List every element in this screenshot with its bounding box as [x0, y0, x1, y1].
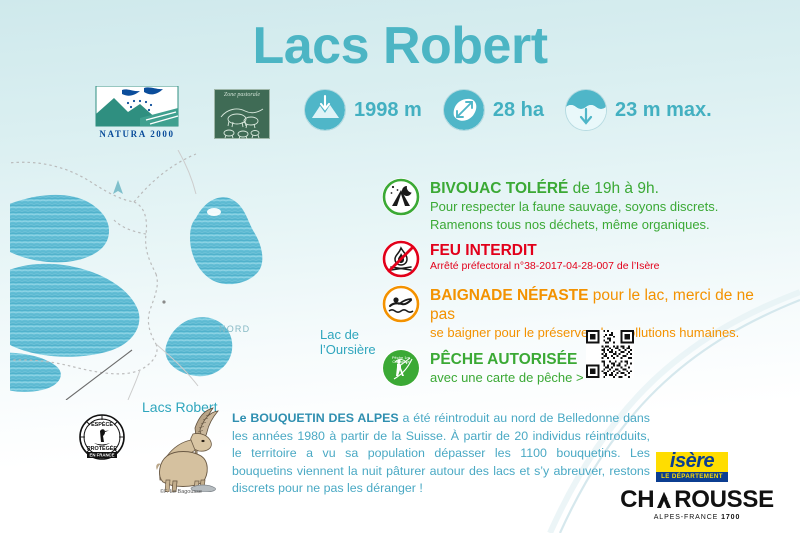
rule-bivouac-title-suffix: de 19h à 9h.: [568, 180, 659, 197]
rule-bivouac-title: BIVOUAC TOLÉRÉ de 19h à 9h.: [430, 179, 718, 198]
rule-no-swimming: BAIGNADE NÉFASTE pour le lac, merci de n…: [382, 285, 782, 342]
map-label-lac-oursiere-line1: Lac de: [320, 327, 359, 342]
ibex-credit: ©F. Le Bagousse: [133, 489, 229, 495]
page-title: Lacs Robert: [0, 16, 800, 76]
chamrousse-logo-sub: ALPES-FRANCE 1700: [607, 514, 787, 521]
swimmer-icon: [382, 285, 420, 323]
rule-no-fire-text: FEU INTERDIT Arrêté préfectoral n°38-201…: [430, 240, 660, 274]
natura-2000-logo: NATURA 2000: [88, 86, 186, 140]
chamrousse-logo-main-right: ROUSSE: [674, 488, 774, 512]
map-label-lac-oursiere-line2: l’Oursière: [320, 342, 376, 357]
mountain-altitude-icon: [305, 90, 345, 130]
chamrousse-logo-main-left: CH: [620, 488, 654, 512]
rule-no-swimming-title: BAIGNADE NÉFASTE pour le lac, merci de n…: [430, 286, 782, 325]
stat-area: 28 ha: [444, 90, 544, 130]
chamrousse-logo-main: CH ROUSSE: [607, 488, 787, 512]
map-label-lac-oursiere: Lac de l’Oursière: [320, 328, 376, 358]
natura-2000-label: NATURA 2000: [99, 129, 174, 139]
isere-logo-sub: LE DÉPARTEMENT: [656, 472, 728, 481]
espece-protegee-line2: PROTÉGÉE: [87, 444, 117, 452]
rule-fishing-text: PÊCHE AUTORISÉE avec une carte de pêche …: [430, 349, 584, 387]
rule-bivouac-line1: Pour respecter la faune sauvage, soyons …: [430, 198, 718, 215]
rule-fishing-title: PÊCHE AUTORISÉE: [430, 350, 584, 369]
rule-no-fire: FEU INTERDIT Arrêté préfectoral n°38-201…: [382, 240, 782, 278]
zone-pastorale-badge: Zone pastorale: [214, 89, 270, 139]
rule-bivouac-line2: Ramenons tous nos déchets, même organiqu…: [430, 216, 718, 233]
water-depth-icon: [566, 90, 606, 130]
isere-logo: isère LE DÉPARTEMENT: [656, 452, 728, 482]
poster-root: Lacs Robert NATURA 2000 Zone pastorale: [0, 0, 800, 533]
chamrousse-logo-sub-number: 1700: [721, 514, 740, 521]
mountain-a-icon: [653, 490, 675, 510]
bouquetin-paragraph: Le BOUQUETIN DES ALPES a été réintroduit…: [232, 410, 650, 498]
lake-map: Lacs Robert Lac de l’Oursière NORD: [10, 150, 390, 400]
zone-pastorale-label: Zone pastorale: [215, 92, 269, 98]
rules-list: BIVOUAC TOLÉRÉ de 19h à 9h. Pour respect…: [382, 178, 782, 394]
chamrousse-logo-sub-text: ALPES-FRANCE: [654, 514, 721, 521]
isere-logo-main: isère: [656, 452, 728, 471]
rule-no-fire-line1: Arrêté préfectoral n°38-2017-04-28-007 d…: [430, 260, 660, 274]
stat-altitude-value: 1998 m: [354, 99, 422, 122]
area-arrow-icon: [444, 90, 484, 130]
chamrousse-logo: CH ROUSSE ALPES-FRANCE 1700: [607, 488, 787, 521]
no-fire-icon: [382, 240, 420, 278]
rule-no-swimming-title-strong: BAIGNADE NÉFASTE: [430, 287, 588, 304]
stat-depth-value: 23 m max.: [615, 99, 712, 122]
ibex-illustration: [133, 404, 229, 492]
fishing-licence-qr-code[interactable]: [586, 330, 634, 378]
stats-row: 1998 m 28 ha 2: [305, 90, 712, 130]
stat-altitude: 1998 m: [305, 90, 422, 130]
stat-depth: 23 m max.: [566, 90, 712, 130]
compass-north-label: NORD: [219, 324, 250, 334]
rule-bivouac-title-strong: BIVOUAC TOLÉRÉ: [430, 180, 568, 197]
rule-bivouac-text: BIVOUAC TOLÉRÉ de 19h à 9h. Pour respect…: [430, 178, 718, 233]
fishing-icon: Pêche 1re Catégorie: [382, 349, 420, 387]
rule-no-fire-title: FEU INTERDIT: [430, 241, 660, 260]
tent-night-icon: [382, 178, 420, 216]
rule-fishing: Pêche 1re Catégorie PÊCHE AUTORISÉE avec…: [382, 349, 782, 387]
espece-protegee-line3: EN FRANCE: [89, 453, 114, 458]
bouquetin-paragraph-lead: Le BOUQUETIN DES ALPES: [232, 411, 399, 425]
rule-fishing-line1: avec une carte de pêche >: [430, 369, 584, 386]
stat-area-value: 28 ha: [493, 99, 544, 122]
rule-bivouac: BIVOUAC TOLÉRÉ de 19h à 9h. Pour respect…: [382, 178, 782, 233]
espece-protegee-badge: ESPÈCE PROTÉGÉE EN FRANCE: [78, 413, 126, 461]
espece-protegee-line1: ESPÈCE: [91, 420, 113, 428]
fishing-badge-line2: Catégorie: [392, 359, 410, 364]
